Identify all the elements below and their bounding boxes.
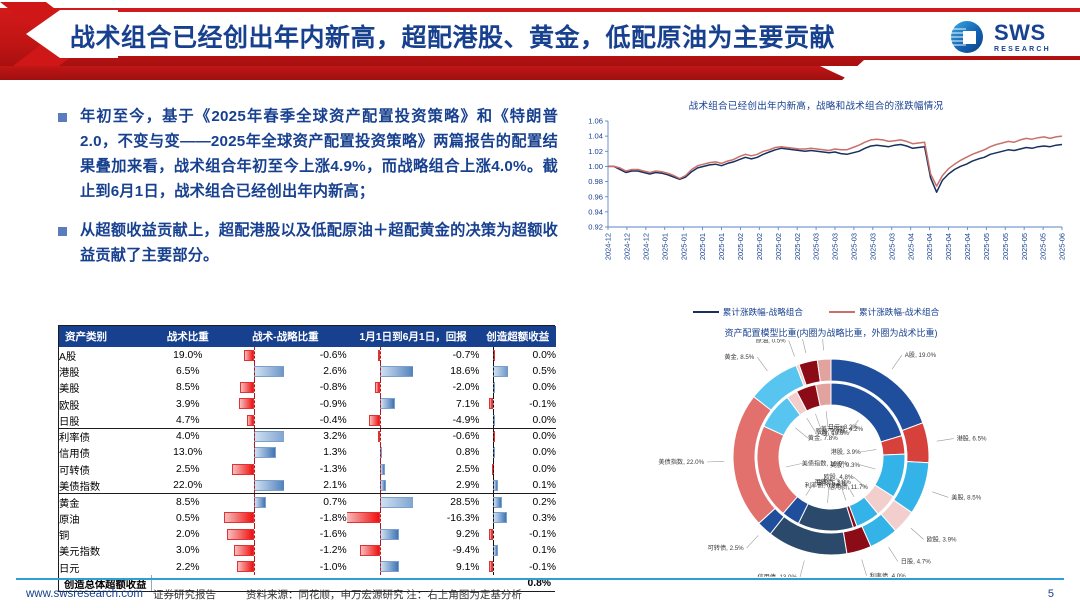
- svg-text:日元, 3.2%: 日元, 3.2%: [828, 424, 858, 431]
- cell-return: -0.6%: [413, 428, 479, 444]
- cell-return: -4.9%: [413, 412, 479, 428]
- cell-asset: A股: [59, 347, 152, 363]
- svg-text:美股, 8.5%: 美股, 8.5%: [951, 493, 981, 501]
- svg-text:0.96: 0.96: [588, 192, 603, 201]
- line-chart-legend: 累计涨跌幅-战略组合 累计涨跌幅-战术组合: [566, 306, 1066, 318]
- slide-header: 战术组合已经创出年内新高，超配港股、黄金，低配原油为主要贡献: [0, 0, 1080, 82]
- svg-text:2025-05: 2025-05: [1001, 233, 1010, 260]
- cell-excess: 0.3%: [508, 510, 556, 526]
- footer-subtitle: 证券研究报告: [153, 587, 216, 602]
- excess-bar: [479, 412, 507, 428]
- cell-diff: -0.6%: [284, 347, 346, 363]
- excess-bar: [479, 526, 507, 542]
- excess-bar: [479, 428, 507, 444]
- performance-line-chart: 战术组合已经创出年内新高，战略和战术组合的涨跌幅情况 0.920.940.960…: [566, 98, 1066, 316]
- svg-text:0.98: 0.98: [588, 177, 603, 186]
- svg-text:信用债, 13.0%: 信用债, 13.0%: [757, 573, 797, 577]
- line-chart-canvas: 0.920.940.960.981.001.021.041.062024-122…: [566, 115, 1066, 305]
- diff-bar: [224, 347, 284, 363]
- cell-return: 18.6%: [413, 363, 479, 379]
- svg-text:2025-06: 2025-06: [1058, 233, 1066, 260]
- cell-excess: 0.5%: [508, 363, 556, 379]
- legend-label-tactical: 累计涨跌幅-战术组合: [859, 306, 939, 318]
- cell-diff: -1.6%: [284, 526, 346, 542]
- cell-tactical: 13.0%: [152, 445, 224, 461]
- diff-bar: [224, 510, 284, 526]
- cell-return: 2.5%: [413, 461, 479, 477]
- svg-text:1.04: 1.04: [588, 132, 603, 141]
- return-bar: [347, 477, 413, 493]
- svg-text:可转债, 3.8%: 可转债, 3.8%: [815, 478, 852, 486]
- cell-asset: 可转债: [59, 461, 152, 477]
- cell-diff: 2.1%: [284, 477, 346, 493]
- svg-text:2025-04: 2025-04: [944, 233, 953, 260]
- cell-excess: 0.0%: [508, 445, 556, 461]
- cell-tactical: 22.0%: [152, 477, 224, 493]
- diff-bar: [224, 428, 284, 444]
- cell-diff: 1.3%: [284, 445, 346, 461]
- diff-bar: [224, 461, 284, 477]
- svg-text:2024-12: 2024-12: [641, 233, 650, 260]
- donut-chart-title: 资产配置模型比重(内圈为战略比重，外圈为战术比重): [596, 326, 1066, 339]
- cell-asset: 铜: [59, 526, 152, 542]
- svg-text:利率债, 4.0%: 利率债, 4.0%: [870, 572, 907, 577]
- cell-tactical: 19.0%: [152, 347, 224, 363]
- cell-diff: -1.2%: [284, 543, 346, 559]
- cell-return: -9.4%: [413, 543, 479, 559]
- logo-subtext: RESEARCH: [994, 46, 1051, 53]
- svg-text:1.06: 1.06: [588, 117, 603, 126]
- diff-bar: [224, 363, 284, 379]
- cell-asset: 港股: [59, 363, 152, 379]
- cell-tactical: 3.0%: [152, 543, 224, 559]
- cell-asset: 信用债: [59, 445, 152, 461]
- cell-diff: 0.7%: [284, 494, 346, 510]
- return-bar: [347, 412, 413, 428]
- return-bar: [347, 396, 413, 412]
- cell-diff: -0.9%: [284, 396, 346, 412]
- cell-tactical: 4.0%: [152, 428, 224, 444]
- return-bar: [347, 445, 413, 461]
- cell-excess: -0.1%: [508, 526, 556, 542]
- cell-diff: -0.8%: [284, 380, 346, 396]
- slide-footer: www.swsresearch.com 证券研究报告 资料来源：同花顺，申万宏源…: [0, 583, 1080, 605]
- cell-tactical: 2.2%: [152, 559, 224, 575]
- cell-excess: 0.0%: [508, 412, 556, 428]
- excess-bar: [479, 461, 507, 477]
- cell-tactical: 4.7%: [152, 412, 224, 428]
- cell-asset: 美债指数: [59, 477, 152, 493]
- table-row: 欧股3.9%-0.9%7.1%-0.1%: [59, 396, 556, 412]
- cell-excess: -0.1%: [508, 559, 556, 575]
- table-row: 美股8.5%-0.8%-2.0%0.0%: [59, 380, 556, 396]
- table-row: 黄金8.5%0.7%28.5%0.2%: [59, 494, 556, 510]
- return-bar: [347, 559, 413, 575]
- bullet-text: 年初至今，基于《2025年春季全球资产配置投资策略》和《特朗普2.0，不变与变—…: [80, 104, 558, 204]
- bullet-square-icon: [58, 227, 67, 236]
- allocation-donut-chart: 资产配置模型比重(内圈为战略比重，外圈为战术比重) A股, 19.0%港股, 6…: [596, 326, 1066, 576]
- table-row: 日元2.2%-1.0%9.1%-0.1%: [59, 559, 556, 575]
- svg-text:2025-03: 2025-03: [831, 233, 840, 260]
- cell-asset: 利率债: [59, 428, 152, 444]
- table-row: 利率债4.0%3.2%-0.6%0.0%: [59, 428, 556, 444]
- cell-return: 7.1%: [413, 396, 479, 412]
- excess-bar: [479, 494, 507, 510]
- diff-bar: [224, 380, 284, 396]
- excess-bar: [479, 510, 507, 526]
- legend-swatch-strategic: [693, 311, 719, 314]
- svg-text:2025-05: 2025-05: [982, 233, 991, 260]
- svg-text:2025-04: 2025-04: [925, 233, 934, 260]
- legend-label-strategic: 累计涨跌幅-战略组合: [723, 306, 803, 318]
- cell-tactical: 8.5%: [152, 494, 224, 510]
- table-row: 铜2.0%-1.6%9.2%-0.1%: [59, 526, 556, 542]
- return-bar: [347, 461, 413, 477]
- svg-text:2025-03: 2025-03: [868, 233, 877, 260]
- table-header-row: 资产类别 战术比重 战术-战略比重 1月1日到6月1日，回报 创造超额收益: [59, 326, 556, 347]
- cell-tactical: 8.5%: [152, 380, 224, 396]
- cell-return: 0.8%: [413, 445, 479, 461]
- svg-text:2025-01: 2025-01: [698, 233, 707, 260]
- svg-text:2025-01: 2025-01: [679, 233, 688, 260]
- diff-bar: [224, 543, 284, 559]
- svg-text:港股, 3.9%: 港股, 3.9%: [831, 448, 861, 456]
- cell-asset: 原油: [59, 510, 152, 526]
- cell-tactical: 6.5%: [152, 363, 224, 379]
- diff-bar: [224, 559, 284, 575]
- cell-excess: 0.0%: [508, 380, 556, 396]
- cell-asset: 日元: [59, 559, 152, 575]
- return-bar: [347, 428, 413, 444]
- cell-diff: -0.4%: [284, 412, 346, 428]
- svg-text:2025-03: 2025-03: [850, 233, 859, 260]
- svg-text:黄金, 8.5%: 黄金, 8.5%: [724, 353, 754, 361]
- cell-excess: 0.0%: [508, 461, 556, 477]
- header-bottom-notch: [840, 60, 1080, 82]
- excess-bar: [479, 477, 507, 493]
- svg-text:2025-03: 2025-03: [887, 233, 896, 260]
- table-row: 日股4.7%-0.4%-4.9%0.0%: [59, 412, 556, 428]
- svg-text:2025-02: 2025-02: [774, 233, 783, 260]
- cell-return: 9.2%: [413, 526, 479, 542]
- svg-text:日股, 4.7%: 日股, 4.7%: [901, 559, 931, 566]
- cell-tactical: 2.0%: [152, 526, 224, 542]
- return-bar: [347, 363, 413, 379]
- svg-text:0.94: 0.94: [588, 207, 603, 216]
- return-bar: [347, 347, 413, 363]
- excess-bar: [479, 396, 507, 412]
- logo-wordmark: SWS: [994, 22, 1051, 44]
- sws-logo: SWS RESEARCH: [946, 12, 1064, 62]
- col-header-diff: 战术-战略比重: [224, 326, 347, 347]
- svg-text:2025-02: 2025-02: [755, 233, 764, 260]
- svg-text:1.02: 1.02: [588, 147, 603, 156]
- svg-text:2024-12: 2024-12: [604, 233, 613, 260]
- legend-item-tactical: 累计涨跌幅-战术组合: [829, 306, 939, 318]
- cell-excess: -0.1%: [508, 396, 556, 412]
- table-row: A股19.0%-0.6%-0.7%0.0%: [59, 347, 556, 363]
- cell-tactical: 3.9%: [152, 396, 224, 412]
- bullet-text: 从超额收益贡献上，超配港股以及低配原油＋超配黄金的决策为超额收益贡献了主要部分。: [80, 218, 558, 268]
- excess-bar: [479, 380, 507, 396]
- cell-return: 9.1%: [413, 559, 479, 575]
- cell-diff: 2.6%: [284, 363, 346, 379]
- bullet-list: 年初至今，基于《2025年春季全球资产配置投资策略》和《特朗普2.0，不变与变—…: [58, 104, 558, 282]
- cell-return: -0.7%: [413, 347, 479, 363]
- page-title: 战术组合已经创出年内新高，超配港股、黄金，低配原油为主要贡献: [70, 18, 880, 58]
- cell-tactical: 2.5%: [152, 461, 224, 477]
- cell-asset: 美元指数: [59, 543, 152, 559]
- footer-source: 资料来源：同花顺，申万宏源研究 注：右上角图为定基分析: [246, 587, 522, 602]
- return-bar: [347, 543, 413, 559]
- diff-bar: [224, 494, 284, 510]
- table-row: 原油0.5%-1.8%-16.3%0.3%: [59, 510, 556, 526]
- svg-text:0.92: 0.92: [588, 223, 603, 232]
- col-header-excess: 创造超额收益: [479, 326, 556, 347]
- diff-bar: [224, 396, 284, 412]
- footer-divider: [16, 578, 1064, 580]
- excess-bar: [479, 559, 507, 575]
- table-row: 信用债13.0%1.3%0.8%0.0%: [59, 445, 556, 461]
- col-header-tactical: 战术比重: [152, 326, 224, 347]
- cell-diff: -1.0%: [284, 559, 346, 575]
- legend-item-strategic: 累计涨跌幅-战略组合: [693, 306, 803, 318]
- excess-bar: [479, 445, 507, 461]
- cell-asset: 日股: [59, 412, 152, 428]
- svg-text:美元指数, 3.0%: 美元指数, 3.0%: [757, 339, 800, 341]
- return-bar: [347, 510, 413, 526]
- cell-asset: 欧股: [59, 396, 152, 412]
- cell-excess: 0.0%: [508, 347, 556, 363]
- line-chart-title: 战术组合已经创出年内新高，战略和战术组合的涨跌幅情况: [566, 98, 1066, 112]
- diff-bar: [224, 526, 284, 542]
- excess-bar: [479, 543, 507, 559]
- svg-text:2025-02: 2025-02: [793, 233, 802, 260]
- svg-text:2025-03: 2025-03: [812, 233, 821, 260]
- return-bar: [347, 494, 413, 510]
- bullet-square-icon: [58, 113, 67, 122]
- allocation-table-wrap: 资产类别 战术比重 战术-战略比重 1月1日到6月1日，回报 创造超额收益 A股…: [58, 325, 555, 592]
- cell-diff: -1.3%: [284, 461, 346, 477]
- svg-text:可转债, 2.5%: 可转债, 2.5%: [708, 544, 745, 552]
- cell-asset: 美股: [59, 380, 152, 396]
- svg-text:2024-12: 2024-12: [623, 233, 632, 260]
- cell-excess: 0.1%: [508, 477, 556, 493]
- col-header-asset: 资产类别: [59, 326, 152, 347]
- return-bar: [347, 380, 413, 396]
- svg-text:美债指数, 22.0%: 美债指数, 22.0%: [658, 458, 704, 466]
- cell-tactical: 0.5%: [152, 510, 224, 526]
- svg-text:2025-05: 2025-05: [1020, 233, 1029, 260]
- page-number: 5: [1048, 588, 1054, 600]
- allocation-table: 资产类别 战术比重 战术-战略比重 1月1日到6月1日，回报 创造超额收益 A股…: [59, 326, 556, 591]
- cell-diff: 3.2%: [284, 428, 346, 444]
- table-row: 美债指数22.0%2.1%2.9%0.1%: [59, 477, 556, 493]
- table-row: 美元指数3.0%-1.2%-9.4%0.1%: [59, 543, 556, 559]
- cell-return: 2.9%: [413, 477, 479, 493]
- list-item: 从超额收益贡献上，超配港股以及低配原油＋超配黄金的决策为超额收益贡献了主要部分。: [58, 218, 558, 268]
- svg-text:2025-01: 2025-01: [660, 233, 669, 260]
- sws-globe-icon: [946, 16, 988, 58]
- cell-diff: -1.8%: [284, 510, 346, 526]
- svg-text:A股, 19.0%: A股, 19.0%: [905, 352, 937, 359]
- svg-text:美债指数, 19.9%: 美债指数, 19.9%: [802, 460, 848, 468]
- svg-text:2025-01: 2025-01: [717, 233, 726, 260]
- cell-return: 28.5%: [413, 494, 479, 510]
- diff-bar: [224, 477, 284, 493]
- svg-text:2025-04: 2025-04: [906, 233, 915, 260]
- legend-swatch-tactical: [829, 311, 855, 314]
- col-header-return: 1月1日到6月1日，回报: [347, 326, 480, 347]
- return-bar: [347, 526, 413, 542]
- footer-url[interactable]: www.swsresearch.com: [26, 588, 143, 600]
- cell-return: -2.0%: [413, 380, 479, 396]
- diff-bar: [224, 412, 284, 428]
- cell-asset: 黄金: [59, 494, 152, 510]
- diff-bar: [224, 445, 284, 461]
- svg-text:1.00: 1.00: [588, 162, 603, 171]
- svg-text:2025-05: 2025-05: [1039, 233, 1048, 260]
- donut-chart-canvas: A股, 19.0%港股, 6.5%美股, 8.5%欧股, 3.9%日股, 4.7…: [596, 339, 1066, 577]
- table-row: 港股6.5%2.6%18.6%0.5%: [59, 363, 556, 379]
- list-item: 年初至今，基于《2025年春季全球资产配置投资策略》和《特朗普2.0，不变与变—…: [58, 104, 558, 204]
- excess-bar: [479, 363, 507, 379]
- cell-excess: 0.1%: [508, 543, 556, 559]
- svg-text:2025-04: 2025-04: [963, 233, 972, 260]
- excess-bar: [479, 347, 507, 363]
- svg-text:港股, 6.5%: 港股, 6.5%: [957, 435, 987, 443]
- cell-excess: 0.2%: [508, 494, 556, 510]
- table-row: 可转债2.5%-1.3%2.5%0.0%: [59, 461, 556, 477]
- cell-return: -16.3%: [413, 510, 479, 526]
- svg-text:2025-02: 2025-02: [736, 233, 745, 260]
- cell-excess: 0.0%: [508, 428, 556, 444]
- svg-text:欧股, 3.9%: 欧股, 3.9%: [927, 535, 957, 543]
